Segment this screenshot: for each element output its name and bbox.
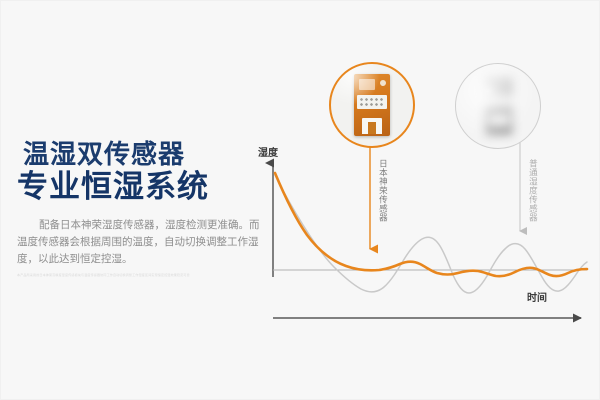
board-connector-notch bbox=[368, 122, 376, 134]
shinei-sensor-label: 日本神荣传感器 bbox=[377, 159, 387, 222]
shinei-sensor-photo-callout bbox=[329, 62, 415, 148]
headline-secondary: 专业恒湿系统 bbox=[17, 171, 265, 204]
x-axis-label: 时间 bbox=[527, 289, 547, 304]
fine-print: 本产品所采用的日本神荣高精度湿度传感模块与温度传感器协同工作自动切换调整工作湿度… bbox=[17, 273, 263, 278]
body-paragraph: 配备日本神荣湿度传感器，湿度检测更准确。而温度传感器会根据周围的温度，自动切换调… bbox=[17, 217, 261, 268]
poster-canvas: 温湿双传感器 专业恒湿系统 配备日本神荣湿度传感器，湿度检测更准确。而温度传感器… bbox=[0, 0, 600, 400]
copy-block: 温湿双传感器 专业恒湿系统 配备日本神荣湿度传感器，湿度检测更准确。而温度传感器… bbox=[15, 141, 265, 278]
series-shinei-sensor-line bbox=[275, 173, 587, 276]
series-ordinary-sensor-line bbox=[275, 175, 587, 293]
ordinary-sensor-photo-callout bbox=[455, 63, 541, 149]
headline-primary: 温湿双传感器 bbox=[23, 141, 265, 169]
ordinary-sensor-label: 普通湿度传感器 bbox=[527, 159, 537, 222]
chart-region: 湿度 时间 日本神荣传感器 普通湿度传感器 bbox=[251, 41, 596, 341]
board-marking bbox=[359, 79, 375, 90]
gray-photo-sheen bbox=[456, 64, 540, 148]
board-chip-dots bbox=[359, 97, 385, 107]
board-mount-hole bbox=[380, 80, 386, 86]
sensor-board-graphic bbox=[354, 74, 390, 136]
y-axis-label: 湿度 bbox=[258, 144, 278, 159]
